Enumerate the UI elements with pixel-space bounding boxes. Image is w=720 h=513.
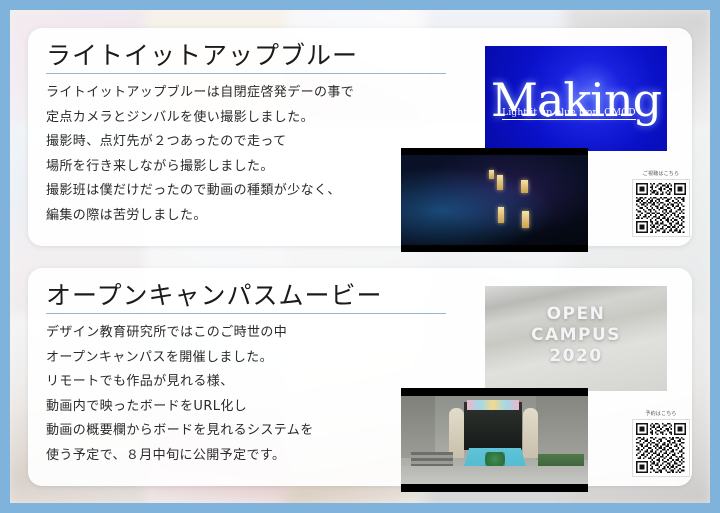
body-line: 編集の際は苦労しました。 xyxy=(46,204,386,229)
qr-code-image[interactable] xyxy=(632,179,690,237)
open-campus-line3: 2020 xyxy=(485,346,667,367)
qr-svg xyxy=(636,183,686,233)
lit-window xyxy=(498,207,504,223)
body-line: 撮影班は僕だけだったので動画の種類が少なく、 xyxy=(46,179,386,204)
body-line: オープンキャンパスを開催しました。 xyxy=(46,346,386,371)
making-subtitle: Light it up blue from OMCD xyxy=(502,108,636,120)
pillar xyxy=(449,408,464,458)
photo-content xyxy=(401,155,588,245)
lit-window xyxy=(522,211,529,228)
title-underline xyxy=(46,313,446,314)
title-underline xyxy=(46,73,446,74)
letterbox-bar xyxy=(401,484,588,492)
card-light-it-up-blue: ライトイットアップブルー ライトイットアップブルーは自閉症啓発デーの事で 定点カ… xyxy=(28,28,692,246)
qr-block-reservation[interactable]: 予約はこちら xyxy=(630,410,692,477)
qr-code-image[interactable] xyxy=(632,419,690,477)
body-line: 使う予定で、８月中旬に公開予定です。 xyxy=(46,444,386,469)
body-line: デザイン教育研究所ではこのご時世の中 xyxy=(46,321,386,346)
card-open-campus-movie: オープンキャンパスムービー デザイン教育研究所ではこのご時世の中 オープンキャン… xyxy=(28,268,692,486)
building-left xyxy=(401,396,435,458)
open-campus-line1: OPEN xyxy=(485,304,667,325)
body-line: ライトイットアップブルーは自閉症啓発デーの事で xyxy=(46,81,386,106)
building-right xyxy=(536,396,588,460)
body-line: 動画内で映ったボードをURL化し xyxy=(46,395,386,420)
card-title: ライトイットアップブルー xyxy=(46,36,358,72)
lit-window xyxy=(521,180,528,193)
entrance-banner xyxy=(467,400,519,410)
open-campus-line2: CAMPUS xyxy=(485,325,667,346)
body-line: 撮影時、点灯先が２つあったので走って xyxy=(46,130,386,155)
body-line: リモートでも作品が見れる様、 xyxy=(46,370,386,395)
letterbox-bar xyxy=(401,245,588,252)
thumbnail-night-building-photo xyxy=(401,148,588,252)
body-line: 定点カメラとジンバルを使い撮影しました。 xyxy=(46,106,386,131)
qr-caption: ご視聴はこちら xyxy=(630,170,692,177)
lit-window xyxy=(489,170,494,179)
body-line: 場所を行き来しながら撮影しました。 xyxy=(46,155,386,180)
qr-caption: 予約はこちら xyxy=(630,410,692,417)
qr-svg xyxy=(636,423,686,473)
slide-canvas: ライトイットアップブルー ライトイットアップブルーは自閉症啓発デーの事で 定点カ… xyxy=(0,0,720,513)
thumbnail-open-campus-title-card: OPEN CAMPUS 2020 xyxy=(485,286,667,391)
card-body: デザイン教育研究所ではこのご時世の中 オープンキャンパスを開催しました。 リモー… xyxy=(46,321,386,468)
pillar xyxy=(523,408,538,458)
lit-window xyxy=(497,175,503,190)
letterbox-bar xyxy=(401,388,588,396)
card-body: ライトイットアップブルーは自閉症啓発デーの事で 定点カメラとジンバルを使い撮影し… xyxy=(46,81,386,228)
thumbnail-campus-entrance-photo xyxy=(401,388,588,492)
foreground-ground xyxy=(401,466,588,484)
photo-content xyxy=(401,396,588,484)
card-title: オープンキャンパスムービー xyxy=(46,276,383,312)
thumbnail-making-title-card: Making Light it up blue from OMCD xyxy=(485,46,667,151)
letterbox-bar xyxy=(401,148,588,155)
body-line: 動画の概要欄からボードを見れるシステムを xyxy=(46,419,386,444)
qr-block-viewing[interactable]: ご視聴はこちら xyxy=(630,170,692,237)
open-campus-text: OPEN CAMPUS 2020 xyxy=(485,304,667,367)
